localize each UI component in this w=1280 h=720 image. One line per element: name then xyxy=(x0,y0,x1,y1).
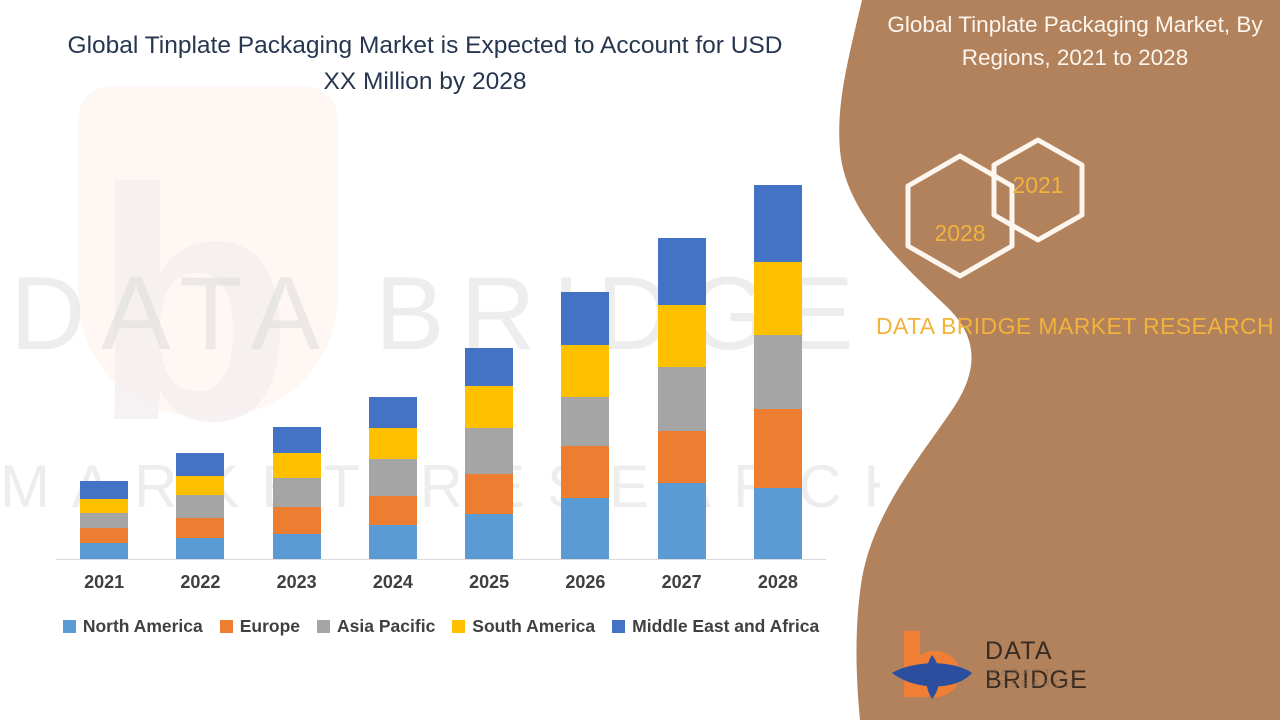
panel-title: Global Tinplate Packaging Market, By Reg… xyxy=(870,8,1280,74)
plot-area xyxy=(56,150,826,560)
logo-tagline: MARKET RESEARCH xyxy=(988,668,1130,690)
bar-slot-2023 xyxy=(249,150,345,559)
chart-title: Global Tinplate Packaging Market is Expe… xyxy=(60,28,790,100)
stacked-bar-2026[interactable] xyxy=(561,292,609,559)
bar-slot-2024 xyxy=(345,150,441,559)
bar-segment-2021-north-america xyxy=(80,543,128,559)
legend-label-south-america: South America xyxy=(472,616,595,637)
hexagon-2021-label: 2021 xyxy=(988,172,1088,199)
x-axis-label-2027: 2027 xyxy=(634,572,730,593)
bar-segment-2021-asia-pacific xyxy=(80,513,128,528)
logo-wordmark: DATA BRIDGE xyxy=(985,637,1130,695)
chart-legend: North AmericaEuropeAsia PacificSouth Ame… xyxy=(56,616,826,637)
bar-segment-2022-north-america xyxy=(176,538,224,559)
bar-segment-2027-south-america xyxy=(658,305,706,367)
bar-slot-2025 xyxy=(441,150,537,559)
bar-segment-2028-north-america xyxy=(754,488,802,559)
x-axis-label-2024: 2024 xyxy=(345,572,441,593)
bar-segment-2025-south-america xyxy=(465,386,513,428)
bar-segment-2026-middle-east-and-africa xyxy=(561,292,609,345)
hexagon-2028-shape xyxy=(908,156,1012,276)
stacked-bar-2028[interactable] xyxy=(754,185,802,559)
x-axis-line xyxy=(56,559,826,560)
x-axis-label-2025: 2025 xyxy=(441,572,537,593)
hexagon-2028-label: 2028 xyxy=(910,220,1010,247)
bar-segment-2026-south-america xyxy=(561,345,609,398)
bar-segment-2023-middle-east-and-africa xyxy=(273,427,321,453)
infographic-canvas: b DATA BRIDGE MARKET RESEARCH Global Tin… xyxy=(0,0,1280,720)
legend-label-asia-pacific: Asia Pacific xyxy=(337,616,435,637)
legend-item-north-america[interactable]: North America xyxy=(63,616,203,637)
bar-segment-2025-europe xyxy=(465,474,513,514)
bar-slot-2021 xyxy=(56,150,152,559)
x-axis-label-2022: 2022 xyxy=(152,572,248,593)
stacked-bar-2021[interactable] xyxy=(80,481,128,559)
x-axis-labels: 20212022202320242025202620272028 xyxy=(56,572,826,593)
bar-segment-2024-south-america xyxy=(369,428,417,459)
legend-label-europe: Europe xyxy=(240,616,300,637)
legend-item-south-america[interactable]: South America xyxy=(452,616,595,637)
legend-item-asia-pacific[interactable]: Asia Pacific xyxy=(317,616,435,637)
bar-segment-2022-europe xyxy=(176,518,224,538)
bar-segment-2024-north-america xyxy=(369,525,417,559)
logo-mark xyxy=(880,625,1130,705)
bar-segment-2024-asia-pacific xyxy=(369,459,417,496)
legend-swatch-europe xyxy=(220,620,233,633)
company-logo: DATA BRIDGE MARKET RESEARCH xyxy=(880,625,1130,705)
bar-segment-2025-middle-east-and-africa xyxy=(465,348,513,387)
bar-segment-2022-asia-pacific xyxy=(176,495,224,518)
bar-segment-2027-europe xyxy=(658,431,706,483)
brand-name: DATA BRIDGE MARKET RESEARCH xyxy=(870,308,1280,344)
bar-segment-2028-south-america xyxy=(754,262,802,335)
bar-segment-2026-asia-pacific xyxy=(561,397,609,446)
x-axis-label-2023: 2023 xyxy=(249,572,345,593)
bar-segment-2027-asia-pacific xyxy=(658,367,706,432)
bar-segment-2021-south-america xyxy=(80,499,128,513)
bar-segment-2028-europe xyxy=(754,409,802,488)
legend-item-europe[interactable]: Europe xyxy=(220,616,300,637)
stacked-bar-2025[interactable] xyxy=(465,348,513,559)
stacked-bar-2024[interactable] xyxy=(369,397,417,559)
bar-segment-2023-north-america xyxy=(273,534,321,559)
legend-swatch-middle-east-and-africa xyxy=(612,620,625,633)
legend-label-middle-east-and-africa: Middle East and Africa xyxy=(632,616,819,637)
bar-segment-2021-europe xyxy=(80,528,128,543)
bar-segment-2028-asia-pacific xyxy=(754,335,802,410)
bar-slot-2022 xyxy=(152,150,248,559)
bar-segment-2024-europe xyxy=(369,496,417,525)
chart-panel: b DATA BRIDGE MARKET RESEARCH Global Tin… xyxy=(0,0,880,720)
hexagon-group: 2028 2021 xyxy=(860,128,1280,288)
legend-swatch-south-america xyxy=(452,620,465,633)
bar-segment-2021-middle-east-and-africa xyxy=(80,481,128,499)
bar-segment-2027-middle-east-and-africa xyxy=(658,238,706,305)
bar-segment-2023-south-america xyxy=(273,453,321,478)
bar-segment-2023-asia-pacific xyxy=(273,478,321,507)
legend-item-middle-east-and-africa[interactable]: Middle East and Africa xyxy=(612,616,819,637)
x-axis-label-2026: 2026 xyxy=(537,572,633,593)
bar-segment-2025-north-america xyxy=(465,514,513,559)
bar-segment-2023-europe xyxy=(273,507,321,534)
bar-slot-2026 xyxy=(537,150,633,559)
bar-segment-2027-north-america xyxy=(658,483,706,559)
bar-segment-2022-south-america xyxy=(176,476,224,495)
bar-segment-2025-asia-pacific xyxy=(465,428,513,474)
bar-group xyxy=(56,150,826,559)
bar-segment-2022-middle-east-and-africa xyxy=(176,453,224,476)
x-axis-label-2021: 2021 xyxy=(56,572,152,593)
legend-swatch-north-america xyxy=(63,620,76,633)
stacked-bar-2023[interactable] xyxy=(273,427,321,559)
bar-slot-2028 xyxy=(730,150,826,559)
legend-label-north-america: North America xyxy=(83,616,203,637)
brand-content: Global Tinplate Packaging Market, By Reg… xyxy=(860,0,1280,720)
bar-segment-2026-europe xyxy=(561,446,609,498)
legend-swatch-asia-pacific xyxy=(317,620,330,633)
bar-segment-2024-middle-east-and-africa xyxy=(369,397,417,428)
stacked-bar-2027[interactable] xyxy=(658,238,706,559)
bar-slot-2027 xyxy=(634,150,730,559)
stacked-bar-2022[interactable] xyxy=(176,453,224,559)
x-axis-label-2028: 2028 xyxy=(730,572,826,593)
bar-segment-2026-north-america xyxy=(561,498,609,559)
hexagon-2021-shape xyxy=(994,140,1082,240)
bar-segment-2028-middle-east-and-africa xyxy=(754,185,802,262)
